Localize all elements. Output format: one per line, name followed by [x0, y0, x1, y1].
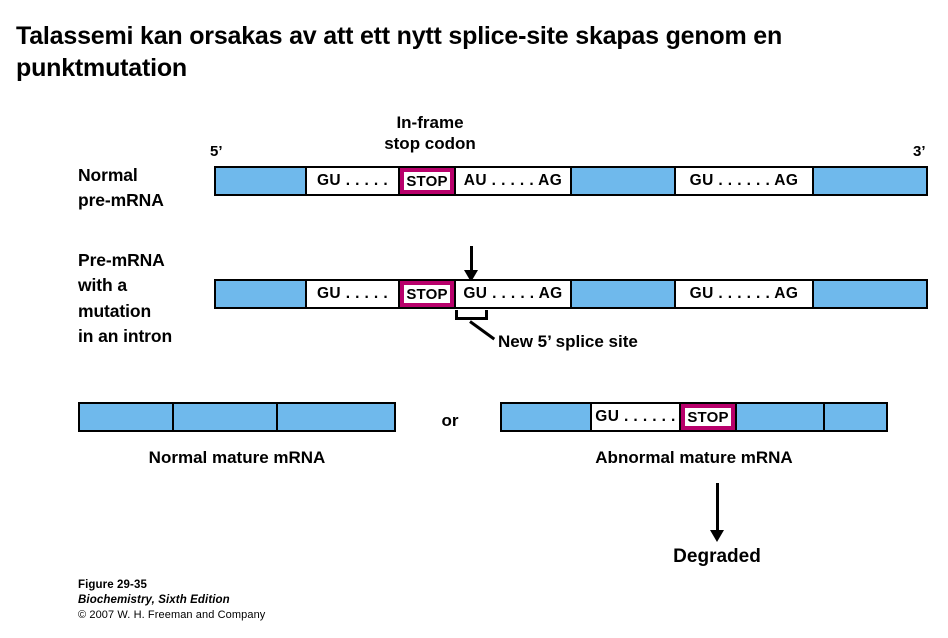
- mutation-arrow-shaft: [470, 246, 473, 272]
- exon-segment: [172, 404, 276, 430]
- row-label-line: mutation: [78, 299, 172, 324]
- intron-segment: GU . . . . . . AG: [674, 168, 812, 194]
- five-prime-label: 5’: [210, 143, 223, 160]
- bar-normal-mature-mrna: [78, 402, 396, 432]
- intron-segment: GU . . . . . . AG: [674, 281, 812, 307]
- caption-abnormal-mature-mrna: Abnormal mature mRNA: [500, 447, 888, 468]
- exon-segment: [276, 404, 394, 430]
- intron-segment: GU . . . . . AG: [454, 281, 570, 307]
- exon-segment: [502, 404, 590, 430]
- figure-canvas: Talassemi kan orsakas av att ett nytt sp…: [0, 0, 948, 638]
- exon-segment: [812, 168, 926, 194]
- exon-segment: [570, 168, 674, 194]
- intron-segment: GU . . . . . .: [590, 404, 679, 430]
- exon-segment: [216, 168, 305, 194]
- row-label-line: with a: [78, 273, 172, 298]
- bar-normal-pre-mrna: GU . . . . . STOP AU . . . . . AG GU . .…: [214, 166, 928, 196]
- caption-normal-mature-mrna: Normal mature mRNA: [78, 447, 396, 468]
- stop-codon-box: STOP: [398, 281, 454, 307]
- in-frame-stop-codon-callout: In-frame stop codon: [352, 112, 508, 155]
- degradation-arrow-head: [710, 530, 724, 542]
- row-label-mutant-pre-mrna: Pre-mRNA with a mutation in an intron: [78, 248, 172, 350]
- figure-copyright: © 2007 W. H. Freeman and Company: [78, 608, 265, 623]
- stop-codon-box: STOP: [398, 168, 454, 194]
- callout-line: In-frame: [352, 112, 508, 133]
- figure-book-title: Biochemistry, Sixth Edition: [78, 593, 265, 609]
- intron-segment: AU . . . . . AG: [454, 168, 570, 194]
- new-splice-site-leader-line: [469, 320, 495, 340]
- three-prime-label: 3’: [913, 143, 926, 160]
- new-splice-site-label: New 5’ splice site: [498, 331, 758, 352]
- exon-segment: [80, 404, 172, 430]
- stop-codon-box: STOP: [679, 404, 735, 430]
- degradation-arrow-shaft: [716, 483, 719, 532]
- or-label: or: [430, 410, 470, 431]
- row-label-line: Pre-mRNA: [78, 248, 172, 273]
- row-label-line: in an intron: [78, 324, 172, 349]
- exon-segment: [812, 281, 926, 307]
- row-label-normal-pre-mrna: Normal pre-mRNA: [78, 163, 164, 214]
- bar-mutant-pre-mrna: GU . . . . . STOP GU . . . . . AG GU . .…: [214, 279, 928, 309]
- page-title: Talassemi kan orsakas av att ett nytt sp…: [16, 20, 916, 84]
- bar-abnormal-mature-mrna: GU . . . . . . STOP: [500, 402, 888, 432]
- figure-credit: Figure 29-35 Biochemistry, Sixth Edition…: [78, 578, 265, 624]
- callout-line: stop codon: [352, 133, 508, 154]
- intron-segment: GU . . . . .: [305, 168, 398, 194]
- intron-segment: GU . . . . .: [305, 281, 398, 307]
- exon-segment: [735, 404, 823, 430]
- new-splice-site-bracket: [455, 310, 488, 320]
- exon-segment: [216, 281, 305, 307]
- row-label-line: pre-mRNA: [78, 188, 164, 213]
- figure-number: Figure 29-35: [78, 578, 265, 593]
- exon-segment: [570, 281, 674, 307]
- row-label-line: Normal: [78, 163, 164, 188]
- degraded-label: Degraded: [617, 545, 817, 569]
- exon-segment: [823, 404, 886, 430]
